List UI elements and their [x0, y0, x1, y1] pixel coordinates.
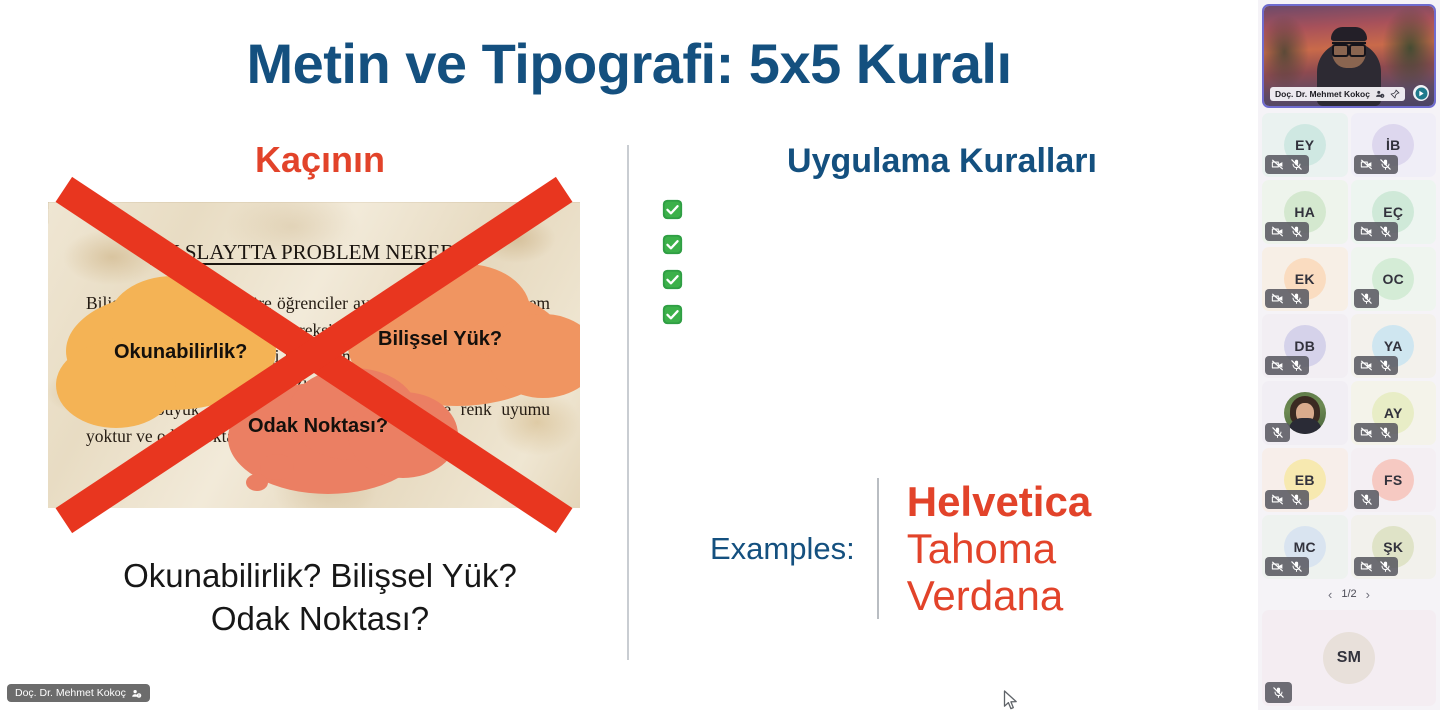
microphone-muted-icon	[1290, 560, 1303, 573]
participant-status-badges	[1265, 289, 1309, 308]
participant-status-badges	[1265, 682, 1292, 703]
camera-off-icon	[1360, 560, 1373, 573]
presenter-chip-label: Doç. Dr. Mehmet Kokoç	[15, 687, 126, 699]
active-speaker-tile[interactable]: Doç. Dr. Mehmet Kokoç i	[1262, 4, 1436, 108]
avatar-initials: DB	[1294, 338, 1315, 354]
microphone-muted-icon	[1272, 686, 1285, 699]
avatar-initials: SM	[1337, 649, 1362, 667]
green-check-icon	[662, 269, 683, 290]
participant-tile[interactable]: İB	[1351, 113, 1437, 177]
left-column: Kaçının	[20, 140, 620, 180]
participant-status-badges	[1265, 155, 1309, 174]
speaker-glasses	[1332, 42, 1366, 52]
presenter-name-chip: Doç. Dr. Mehmet Kokoç i	[7, 684, 150, 702]
microphone-muted-icon	[1360, 292, 1373, 305]
microphone-muted-icon	[1379, 359, 1392, 372]
network-quality-icon	[1413, 85, 1429, 101]
avatar	[1284, 392, 1326, 434]
participant-tile[interactable]: ŞK	[1351, 515, 1437, 579]
participant-tile[interactable]: MC	[1262, 515, 1348, 579]
participant-status-badges	[1354, 490, 1379, 509]
avatar-initials: ŞK	[1383, 539, 1403, 555]
example-font-name: Helvetica	[907, 478, 1091, 525]
participant-tile[interactable]: EY	[1262, 113, 1348, 177]
camera-off-icon	[1271, 225, 1284, 238]
rule-item	[662, 229, 1222, 255]
host-icon: i	[131, 688, 142, 699]
examples-label: Examples:	[710, 531, 877, 567]
camera-off-icon	[1360, 225, 1373, 238]
left-caption-line-1: Okunabilirlik? Bilişsel Yük?	[20, 555, 620, 598]
participant-status-badges	[1354, 222, 1398, 241]
microphone-muted-icon	[1379, 560, 1392, 573]
pagination-label: 1/2	[1341, 588, 1356, 600]
avatar-initials: MC	[1294, 539, 1316, 555]
avatar-initials: EK	[1295, 271, 1315, 287]
pin-icon[interactable]	[1390, 89, 1400, 99]
avatar: SM	[1323, 632, 1375, 684]
rule-item	[662, 299, 1222, 325]
camera-off-icon	[1360, 359, 1373, 372]
left-caption-line-2: Odak Noktası?	[20, 598, 620, 641]
green-check-icon	[662, 234, 683, 255]
participant-tile[interactable]: AY	[1351, 381, 1437, 445]
camera-off-icon	[1360, 158, 1373, 171]
avatar-initials: AY	[1384, 405, 1403, 421]
speaker-hair	[1331, 27, 1367, 41]
pagination-prev-button[interactable]: ‹	[1328, 587, 1332, 602]
participant-tile[interactable]: DB	[1262, 314, 1348, 378]
rule-item	[662, 194, 1222, 220]
participants-pagination: ‹ 1/2 ›	[1262, 581, 1436, 607]
participant-status-badges	[1265, 490, 1309, 509]
participant-tile[interactable]: OC	[1351, 247, 1437, 311]
participant-status-badges	[1354, 557, 1398, 576]
participant-status-badges	[1265, 222, 1309, 241]
participant-tile[interactable]: FS	[1351, 448, 1437, 512]
left-caption: Okunabilirlik? Bilişsel Yük? Odak Noktas…	[20, 555, 620, 641]
green-check-icon	[662, 304, 683, 325]
participant-status-badges	[1354, 155, 1398, 174]
bad-slide-example-image: BU SLAYTTA PROBLEM NEREDE? Bilişsel yük …	[48, 202, 580, 508]
microphone-muted-icon	[1379, 426, 1392, 439]
column-divider	[627, 145, 629, 660]
slide-title: Metin ve Tipografi: 5x5 Kuralı	[0, 34, 1258, 94]
camera-off-icon	[1271, 493, 1284, 506]
example-font-name: Tahoma	[907, 525, 1091, 572]
avatar: OC	[1372, 258, 1414, 300]
mouse-cursor-icon	[1003, 690, 1019, 710]
microphone-muted-icon	[1379, 158, 1392, 171]
participant-status-badges	[1265, 423, 1290, 442]
microphone-muted-icon	[1290, 493, 1303, 506]
microphone-muted-icon	[1290, 292, 1303, 305]
camera-off-icon	[1271, 292, 1284, 305]
avatar-initials: EB	[1295, 472, 1315, 488]
rules-list	[662, 194, 1222, 325]
participant-tile[interactable]: EB	[1262, 448, 1348, 512]
participant-tile[interactable]: HA	[1262, 180, 1348, 244]
microphone-muted-icon	[1290, 225, 1303, 238]
parchment-heading: BU SLAYTTA PROBLEM NEREDE?	[48, 240, 580, 265]
avatar-initials: EY	[1295, 137, 1314, 153]
avatar-initials: OC	[1382, 271, 1404, 287]
speaker-name-chip: Doç. Dr. Mehmet Kokoç i	[1270, 87, 1405, 101]
right-column: Uygulama Kuralları	[662, 142, 1222, 334]
participant-tile[interactable]: EK	[1262, 247, 1348, 311]
avatar: FS	[1372, 459, 1414, 501]
avatar-initials: İB	[1386, 137, 1401, 153]
avoid-heading: Kaçının	[20, 140, 620, 180]
participant-tile[interactable]: YA	[1351, 314, 1437, 378]
green-check-icon	[662, 199, 683, 220]
participant-status-badges	[1265, 356, 1309, 375]
participant-grid: EY İB HA	[1262, 113, 1436, 579]
rule-item	[662, 264, 1222, 290]
participants-sidebar: Doç. Dr. Mehmet Kokoç i EY	[1258, 0, 1440, 710]
microphone-muted-icon	[1290, 158, 1303, 171]
pagination-next-button[interactable]: ›	[1366, 587, 1370, 602]
thought-bubble-tail	[246, 474, 268, 491]
microphone-muted-icon	[1379, 225, 1392, 238]
participant-status-badges	[1265, 557, 1309, 576]
host-icon: i	[1375, 89, 1385, 99]
camera-off-icon	[1360, 426, 1373, 439]
participant-tile[interactable]	[1262, 381, 1348, 445]
microphone-muted-icon	[1360, 493, 1373, 506]
camera-off-icon	[1271, 560, 1284, 573]
bubble-label-focus-point: Odak Noktası?	[248, 415, 388, 438]
avatar-initials: HA	[1294, 204, 1315, 220]
examples-section: Examples: HelveticaTahomaVerdana	[710, 478, 1091, 619]
avatar-initials: FS	[1384, 472, 1403, 488]
bubble-label-readability: Okunabilirlik?	[114, 341, 247, 364]
rules-heading: Uygulama Kuralları	[662, 142, 1222, 181]
camera-off-icon	[1271, 359, 1284, 372]
participant-status-badges	[1354, 356, 1398, 375]
bubble-label-cognitive-load: Bilişsel Yük?	[378, 328, 502, 351]
microphone-muted-icon	[1271, 426, 1284, 439]
participant-tile[interactable]: EÇ	[1351, 180, 1437, 244]
overflow-participant-tile[interactable]: SM	[1262, 610, 1436, 706]
microphone-muted-icon	[1290, 359, 1303, 372]
avatar-initials: EÇ	[1383, 204, 1403, 220]
shared-slide-stage: Metin ve Tipografi: 5x5 Kuralı Kaçının B…	[0, 0, 1258, 710]
participant-status-badges	[1354, 423, 1398, 442]
example-font-name: Verdana	[907, 572, 1091, 619]
svg-text:i: i	[138, 693, 139, 697]
screen-share-window: Metin ve Tipografi: 5x5 Kuralı Kaçının B…	[0, 0, 1440, 710]
avatar-initials: YA	[1384, 338, 1403, 354]
examples-font-names: HelveticaTahomaVerdana	[879, 478, 1091, 619]
camera-off-icon	[1271, 158, 1284, 171]
participant-status-badges	[1354, 289, 1379, 308]
speaker-name-label: Doç. Dr. Mehmet Kokoç	[1275, 89, 1370, 99]
